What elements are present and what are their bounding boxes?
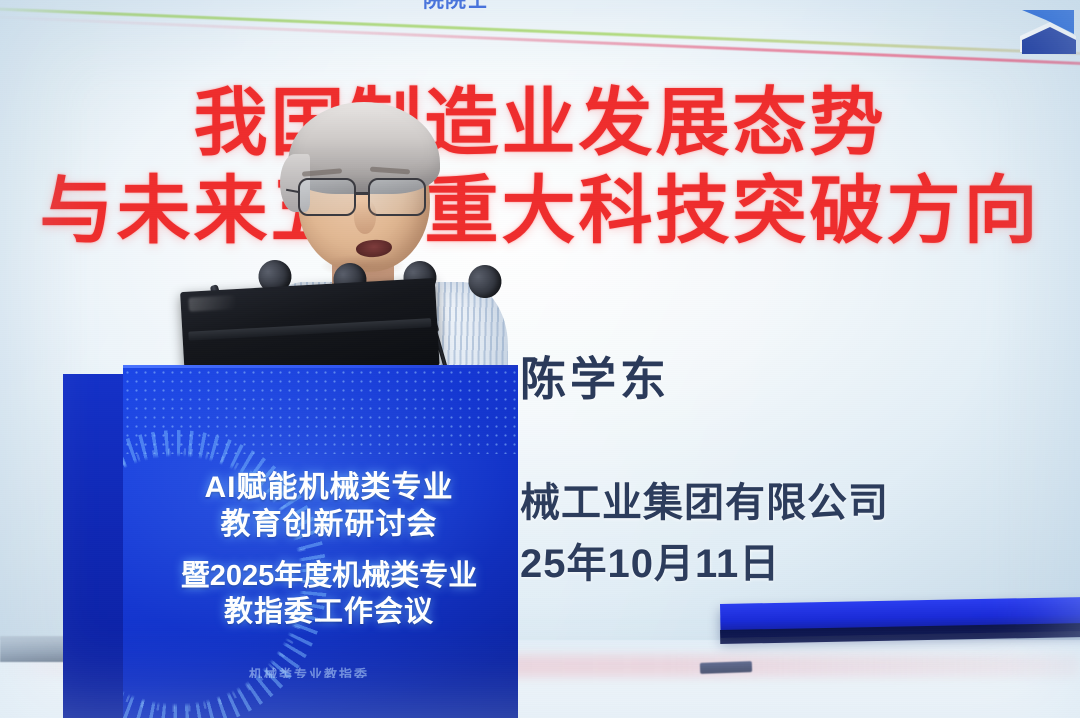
podium-title-line3: 暨2025年度机械类专业	[143, 559, 515, 594]
podium-event-title: AI赋能机械类专业 教育创新研讨会 暨2025年度机械类专业 教指委工作会议	[143, 470, 515, 630]
laptop-hinge-bar	[188, 318, 431, 341]
eyeglass-bridge	[356, 192, 370, 195]
podium-title-line4: 教指委工作会议	[143, 595, 515, 630]
podium-side-panel	[63, 374, 125, 718]
speaker-nose	[354, 200, 376, 234]
podium-title-line1: AI赋能机械类专业	[143, 470, 515, 507]
eyeglass-lens-right	[368, 178, 426, 216]
floor-object	[700, 661, 752, 674]
photograph-scene: 院院士 我国制造业发展态势 与未来五年重大科技突破方向 陈学东 械工业集团有限公…	[0, 0, 1080, 718]
podium-footer-text: 机械类专业教指委	[123, 664, 495, 678]
eyeglass-lens-left	[298, 178, 356, 216]
podium-title-line2: 教育创新研讨会	[143, 507, 515, 544]
podium: AI赋能机械类专业 教育创新研讨会 暨2025年度机械类专业 教指委工作会议 机…	[63, 368, 518, 718]
laptop-sheen	[188, 295, 235, 312]
